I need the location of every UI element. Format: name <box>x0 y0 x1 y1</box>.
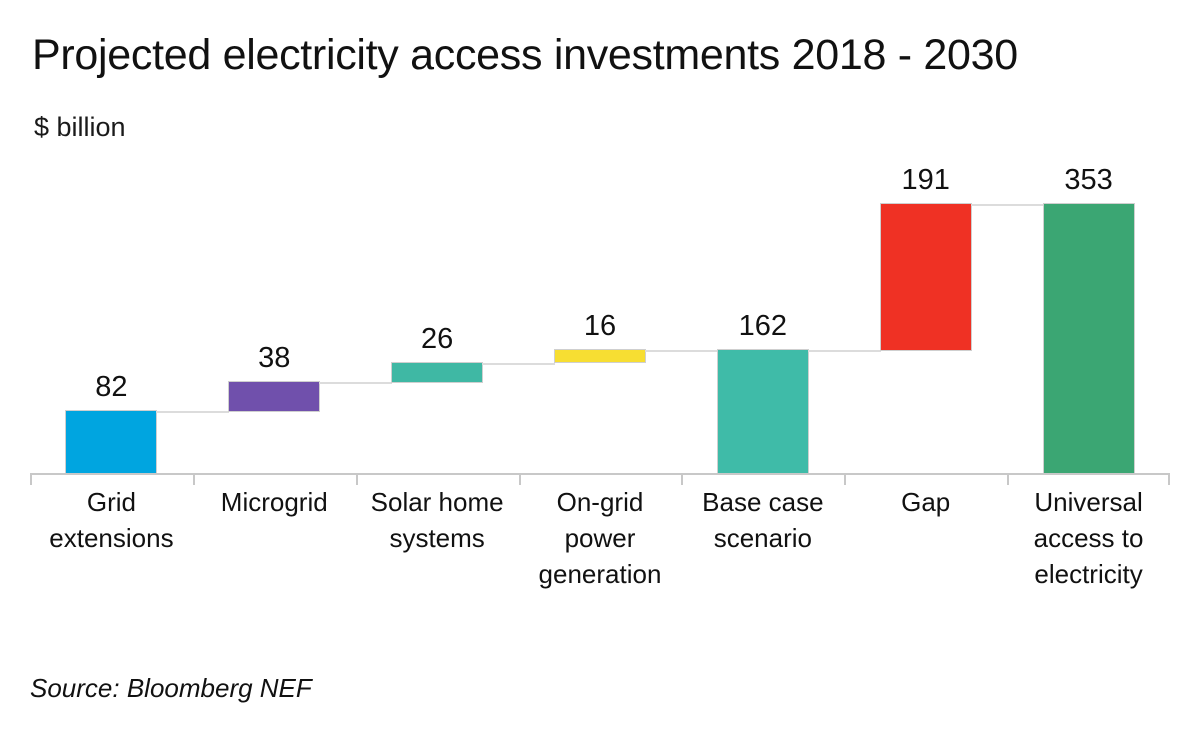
x-axis-label-line: Solar home <box>356 484 519 520</box>
x-axis-label-line: Microgrid <box>193 484 356 520</box>
bar-value-label: 38 <box>258 344 290 373</box>
bar-on-grid-power-generation[interactable] <box>555 350 645 362</box>
bar-gap[interactable] <box>881 204 971 350</box>
x-axis-label-line: access to <box>1007 520 1170 556</box>
x-axis-label-line: On-grid <box>519 484 682 520</box>
bar-microgrid[interactable] <box>229 382 319 411</box>
source-note: Source: Bloomberg NEF <box>30 675 312 701</box>
x-axis-tick <box>519 474 521 485</box>
chart-units-subtitle: $ billion <box>34 114 126 141</box>
x-axis-label-line: Base case <box>681 484 844 520</box>
x-axis-tick <box>681 474 683 485</box>
bar-base-case-scenario[interactable] <box>718 350 808 474</box>
x-axis-label-line: electricity <box>1007 556 1170 592</box>
bar-value-label: 16 <box>584 312 616 341</box>
x-axis-tick <box>193 474 195 485</box>
x-axis-label-line: Gap <box>844 484 1007 520</box>
x-axis-tick <box>1007 474 1009 485</box>
x-axis-category-labels: GridextensionsMicrogridSolar homesystems… <box>30 484 1170 599</box>
x-axis-label-line: power <box>519 520 682 556</box>
bar-slot: 38 <box>193 180 356 474</box>
x-axis-label-base-case-scenario: Base casescenario <box>681 484 844 556</box>
bar-value-label: 191 <box>902 166 950 195</box>
bar-solar-home-systems[interactable] <box>392 363 482 383</box>
x-axis-label-line: extensions <box>30 520 193 556</box>
x-axis-label-microgrid: Microgrid <box>193 484 356 520</box>
x-axis-label-on-grid-power-generation: On-gridpowergeneration <box>519 484 682 592</box>
bar-grid-extensions[interactable] <box>66 411 156 474</box>
x-axis-label-line: Grid <box>30 484 193 520</box>
x-axis-label-universal-access-to-electricity: Universalaccess toelectricity <box>1007 484 1170 592</box>
x-axis-tick <box>30 474 32 485</box>
x-axis-tick <box>356 474 358 485</box>
x-axis-tick <box>1168 474 1170 485</box>
page-title: Projected electricity access investments… <box>32 34 1018 77</box>
x-axis-line <box>30 473 1170 475</box>
bar-slot: 16 <box>519 180 682 474</box>
x-axis-label-line: scenario <box>681 520 844 556</box>
waterfall-chart-figure: Projected electricity access investments… <box>0 0 1200 733</box>
bar-slot: 353 <box>1007 180 1170 474</box>
bar-value-label: 82 <box>95 373 127 402</box>
bar-slot: 162 <box>681 180 844 474</box>
plot-area: 82382616162191353 <box>30 180 1170 474</box>
x-axis-label-solar-home-systems: Solar homesystems <box>356 484 519 556</box>
x-axis-label-grid-extensions: Gridextensions <box>30 484 193 556</box>
bar-slot: 191 <box>844 180 1007 474</box>
x-axis-label-gap: Gap <box>844 484 1007 520</box>
x-axis-label-line: generation <box>519 556 682 592</box>
bar-value-label: 353 <box>1064 166 1112 195</box>
bar-value-label: 162 <box>739 312 787 341</box>
x-axis-label-line: systems <box>356 520 519 556</box>
bar-slot: 26 <box>356 180 519 474</box>
bar-value-label: 26 <box>421 325 453 354</box>
x-axis-label-line: Universal <box>1007 484 1170 520</box>
x-axis-tick <box>844 474 846 485</box>
bar-universal-access-to-electricity[interactable] <box>1044 204 1134 474</box>
bar-slot: 82 <box>30 180 193 474</box>
